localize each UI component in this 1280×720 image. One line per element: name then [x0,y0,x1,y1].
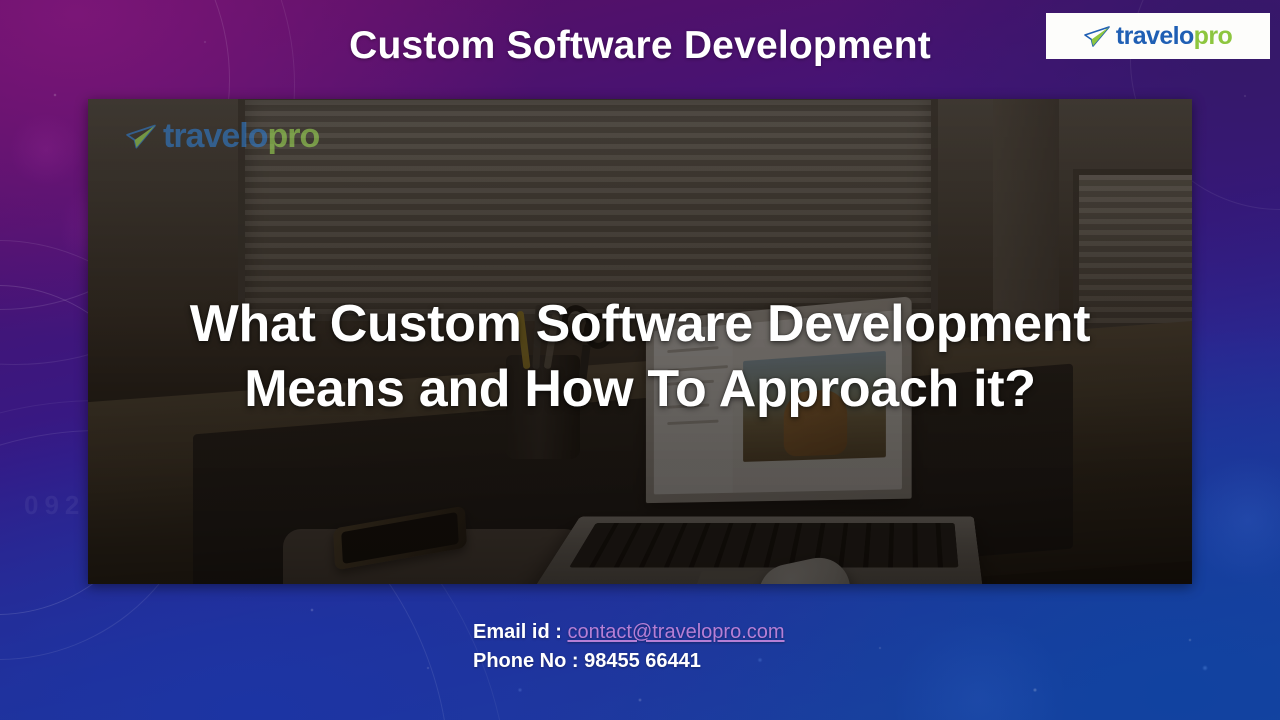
brand-logo-text-green: pro [1194,22,1232,50]
paper-plane-icon [1084,25,1110,47]
contact-email-row: Email id : contact@travelopro.com [473,618,785,647]
contact-phone-row: Phone No : 98455 66441 [473,647,785,676]
presentation-slide: 092 Custom Software Development travelop… [0,0,1280,720]
photo-watermark-text: travelopro [163,119,319,153]
phone-value: 98455 66441 [584,650,701,672]
brand-logo-text: travelopro [1116,24,1232,49]
hero-headline-line-2: Means and How To Approach it? [118,357,1162,422]
watermark-text-blue: travelo [163,117,268,155]
phone-label: Phone No : [473,650,579,672]
brand-logo: travelopro [1046,13,1270,59]
watermark-text-green: pro [268,117,320,155]
contact-block: Email id : contact@travelopro.com Phone … [473,618,785,676]
paper-plane-icon [126,123,156,149]
brand-logo-text-blue: travelo [1116,22,1194,50]
email-label: Email id : [473,621,562,643]
hero-headline: What Custom Software Development Means a… [88,292,1192,422]
email-link[interactable]: contact@travelopro.com [567,621,784,643]
hero-photo: travelopro What Custom Software Developm… [88,99,1192,584]
background-watermark-number: 092 [24,490,85,521]
hero-headline-line-1: What Custom Software Development [118,292,1162,357]
photo-watermark-logo: travelopro [126,119,319,153]
